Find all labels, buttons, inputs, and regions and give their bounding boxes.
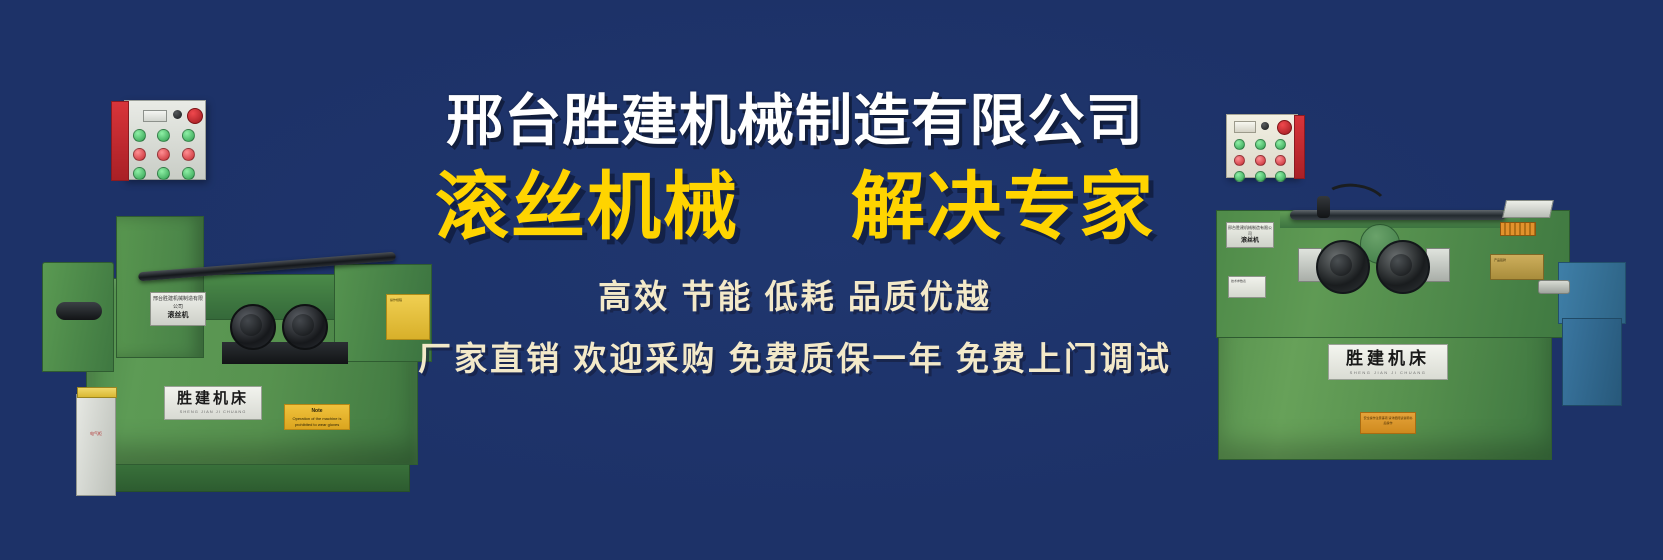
machine-left-cabinet-top-label <box>77 387 117 398</box>
machine-right-panel-red-edge <box>1294 115 1305 179</box>
machine-left-spec-sub: 邢台胜建机械制造有限公司 <box>153 296 203 310</box>
subline-features: 高效 节能 低耗 品质优越 <box>400 270 1190 318</box>
machine-right-panel-buttons <box>1234 139 1290 182</box>
machine-left-nameplate: 胜建机床 SHENG JIAN JI CHUANG <box>164 386 262 420</box>
machine-left-panel-display <box>143 110 167 122</box>
headline: 滚丝机械 解决专家 <box>400 170 1190 244</box>
machine-left-spec-plate: 邢台胜建机械制造有限公司 滚丝机 <box>150 292 206 326</box>
panel-button-green <box>1234 139 1245 150</box>
machine-left-panel-red-edge <box>111 101 129 181</box>
panel-button-red <box>1255 155 1266 166</box>
machine-left-warning-title: Note <box>287 408 347 416</box>
machine-left-warning-text: Operation of the machine is prohibited t… <box>293 416 342 427</box>
panel-button-red <box>157 148 170 161</box>
machine-right-nozzle <box>1538 280 1570 294</box>
machine-right-panel-display <box>1234 121 1256 133</box>
machine-right-warning-label: 安全操作注意事项 请详细阅读说明书后操作 <box>1360 412 1416 434</box>
machine-left-roller-hub-a <box>240 314 262 336</box>
headline-right: 解决专家 <box>851 170 1155 244</box>
machine-left-panel-knob-icon <box>173 110 182 119</box>
machine-left-electrical-cabinet: 电气柜 <box>76 394 116 496</box>
machine-left-nameplate-cn: 胜建机床 <box>177 392 249 407</box>
machine-left-cabinet-label: 电气柜 <box>80 429 112 439</box>
panel-button-green <box>1255 171 1266 182</box>
panel-button-green <box>133 129 146 142</box>
machine-right-nameplate-cn: 胜建机床 <box>1346 350 1430 367</box>
panel-button-green <box>133 167 146 180</box>
machine-left-nameplate-en: SHENG JIAN JI CHUANG <box>180 409 247 414</box>
panel-button-green <box>1275 139 1286 150</box>
panel-button-green <box>182 129 195 142</box>
panel-button-red <box>182 148 195 161</box>
machine-right-outfeed-lower <box>1562 318 1622 406</box>
banner-text-block: 邢台胜建机械制造有限公司 滚丝机械 解决专家 高效 节能 低耗 品质优越 厂家直… <box>400 92 1190 380</box>
machine-left-spindle <box>56 302 102 320</box>
machine-right-parameter-plate: 技术参数表 <box>1228 276 1266 298</box>
headline-left: 滚丝机械 <box>435 170 739 244</box>
machine-right-spec-title: 滚丝机 <box>1227 237 1273 246</box>
machine-right-spec-plate: 邢台胜建机械制造有限公司 滚丝机 <box>1226 222 1274 248</box>
panel-button-green <box>1255 139 1266 150</box>
machine-right-roller-hub-a <box>1330 254 1352 276</box>
panel-button-green <box>157 129 170 142</box>
machine-left-emergency-stop-button <box>187 108 203 124</box>
subline-offers: 厂家直销 欢迎采购 免费质保一年 免费上门调试 <box>400 332 1190 380</box>
promotional-banner: 邢台胜建机械制造有限公司 滚丝机 胜建机床 SHENG JIAN JI CHUA… <box>0 0 1663 560</box>
machine-left-warning-label: Note Operation of the machine is prohibi… <box>284 404 350 430</box>
machine-left-spec-title: 滚丝机 <box>151 311 205 322</box>
machine-right-nameplate: 胜建机床 SHENG JIAN JI CHUANG <box>1328 344 1448 380</box>
machine-right-nameplate-en: SHENG JIAN JI CHUANG <box>1350 370 1427 375</box>
panel-button-red <box>133 148 146 161</box>
machine-right-brass-plate: 产品铭牌 <box>1490 254 1544 280</box>
machine-right-fin-block <box>1500 222 1536 236</box>
machine-left-control-panel <box>124 100 206 180</box>
panel-button-red <box>1234 155 1245 166</box>
machine-image-left: 邢台胜建机械制造有限公司 滚丝机 胜建机床 SHENG JIAN JI CHUA… <box>34 96 434 486</box>
machine-right-panel-knob-icon <box>1261 122 1269 130</box>
machine-image-right: 邢台胜建机械制造有限公司 滚丝机 技术参数表 产品铭牌 胜建机床 SHENG J… <box>1170 112 1640 462</box>
machine-right-roller-hub-b <box>1390 254 1412 276</box>
company-name: 邢台胜建机械制造有限公司 <box>392 92 1198 150</box>
machine-right-spec-sub: 邢台胜建机械制造有限公司 <box>1228 225 1272 236</box>
machine-right-control-panel <box>1226 114 1298 178</box>
machine-right-valve-block <box>1502 200 1554 218</box>
machine-right-emergency-stop-button <box>1277 120 1292 135</box>
machine-left-roller-hub-b <box>292 314 314 336</box>
machine-left-panel-buttons <box>133 129 199 180</box>
panel-button-red <box>1275 155 1286 166</box>
machine-left-column <box>116 216 204 358</box>
machine-right-hose-cap <box>1317 196 1330 218</box>
panel-button-green <box>1275 171 1286 182</box>
panel-button-green <box>1234 171 1245 182</box>
panel-button-green <box>157 167 170 180</box>
panel-button-green <box>182 167 195 180</box>
